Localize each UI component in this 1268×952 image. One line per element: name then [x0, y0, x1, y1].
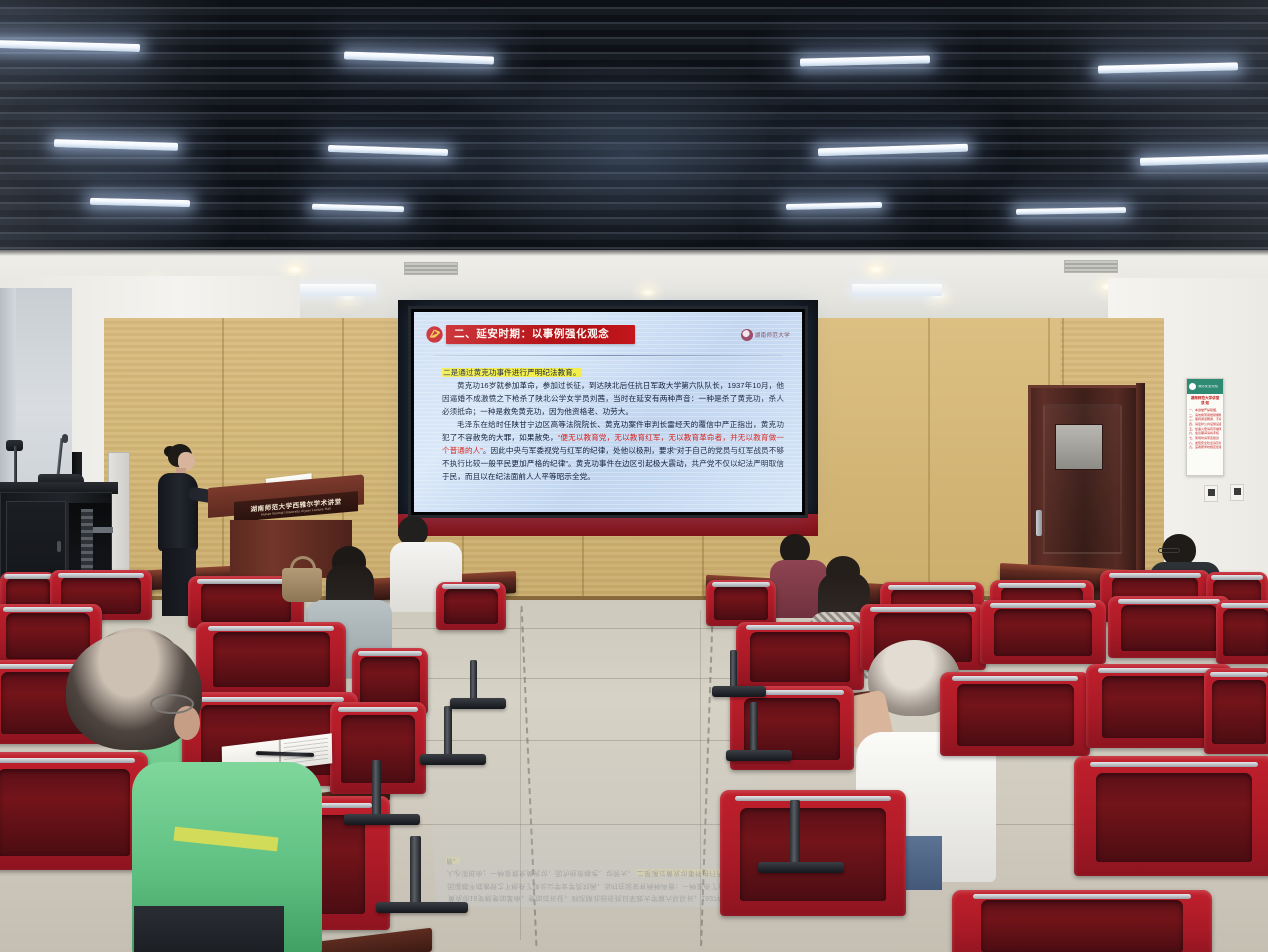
slide-divider — [434, 355, 782, 356]
seat-support-leg — [790, 800, 800, 870]
door-window — [1055, 424, 1103, 470]
notice-body-line: 七、离场时请带走随身 — [1189, 436, 1221, 441]
seat-base-foot — [450, 698, 506, 709]
seat-base-foot — [726, 750, 792, 761]
fluorescent-tube — [786, 202, 882, 210]
soffit-shadow — [0, 250, 1268, 256]
presenter-torso — [158, 473, 198, 551]
slide-header: 二、延安时期：以事例强化观念 湖南师范大学 — [426, 324, 790, 345]
notice-header-text: 消防安全须知 — [1198, 385, 1218, 388]
fluorescent-tube — [312, 204, 404, 213]
slide-paragraph-1: 黄克功16岁就参加革命，参加过长征，到达陕北后任抗日军政大学第六队队长，1937… — [442, 379, 784, 418]
university-seal-icon — [741, 329, 753, 341]
wall-switch-panel[interactable] — [1230, 484, 1244, 501]
seat-base-foot — [712, 686, 766, 697]
notice-title-line-2: 须 知 — [1188, 401, 1222, 406]
auditorium-seat[interactable] — [706, 580, 776, 626]
university-logo: 湖南师范大学 — [741, 329, 790, 341]
attendee-glasses-icon — [150, 694, 194, 714]
seat-support-leg — [444, 706, 452, 760]
wall-switch-panel[interactable] — [1204, 485, 1218, 502]
university-logo-text: 湖南师范大学 — [755, 331, 790, 339]
auditorium-seat[interactable] — [1216, 600, 1268, 664]
seat-support-leg — [410, 836, 421, 910]
party-emblem-icon — [426, 326, 443, 343]
notice-body: 一、本讲堂严禁吸烟、二、请勿携带易燃易爆物品三、保持通道畅通、不得四、请爱护公共… — [1187, 407, 1223, 451]
wall-tan-panels-right — [810, 318, 1060, 588]
notice-body-line: 四、请爱护公共设施设备 — [1189, 422, 1221, 427]
attendee-glasses-icon — [1158, 548, 1180, 553]
seat-base-foot — [376, 902, 468, 913]
projection-screen[interactable]: 二、延安时期：以事例强化观念 湖南师范大学 二是通过黄克功事件进行严明纪法教育。… — [408, 306, 808, 518]
rack-door-handle[interactable] — [57, 541, 61, 552]
fluorescent-tube — [800, 55, 930, 66]
recessed-downlight — [868, 265, 884, 274]
auditorium-seat[interactable] — [436, 582, 506, 630]
slide-body: 二是通过黄克功事件进行严明纪法教育。 黄克功16岁就参加革命，参加过长征，到达陕… — [442, 366, 784, 483]
ceiling-highlight-right — [1008, 0, 1268, 258]
door-handle[interactable] — [1036, 510, 1042, 536]
para2-part-b: 。因此中央与军委视党与红军的纪律，处他以极刑，要求“对于自己的党员与红军战员不够… — [442, 446, 784, 481]
seat-base-foot — [758, 862, 844, 873]
notice-logo-icon — [1189, 383, 1196, 390]
ceiling-air-vent — [1064, 260, 1118, 273]
ceiling-air-vent — [404, 262, 458, 275]
slide-floor-reflection: 黄克功16岁就参加革命，参加过长征，到达陕北后任抗日军政大学第六队队长，1937… — [428, 742, 767, 907]
recessed-downlight — [640, 288, 656, 297]
seat-support-leg — [750, 702, 758, 756]
highlighted-text: 二是通过黄克功事件进行严明纪法教育。 — [442, 368, 582, 377]
notice-title: 湖南师范大学讲堂 须 知 — [1187, 394, 1223, 407]
wall-notice-board[interactable]: 消防安全须知 湖南师范大学讲堂 须 知 一、本讲堂严禁吸烟、二、请勿携带易燃易爆… — [1186, 378, 1224, 476]
seat-support-leg — [372, 760, 381, 820]
auditorium-seat[interactable] — [1204, 668, 1268, 754]
auditorium-seat[interactable] — [952, 890, 1212, 952]
auditorium-seat[interactable] — [940, 672, 1090, 756]
av-lamp-pole — [14, 446, 17, 486]
panel-light — [852, 284, 942, 296]
slide-title: 二、延安时期：以事例强化观念 — [446, 325, 635, 344]
switch-rocker[interactable] — [1208, 489, 1215, 496]
auditorium-seat[interactable] — [720, 790, 906, 916]
seat-base-foot — [420, 754, 486, 765]
handbag[interactable] — [282, 568, 322, 602]
fluorescent-tube — [344, 51, 494, 64]
slide-surface: 二、延安时期：以事例强化观念 湖南师范大学 二是通过黄克功事件进行严明纪法教育。… — [414, 312, 802, 512]
lecture-hall-scene: 消防安全须知 湖南师范大学讲堂 须 知 一、本讲堂严禁吸烟、二、请勿携带易燃易爆… — [0, 0, 1268, 952]
reflection-text: 黄克功16岁就参加革命，参加过长征，到达陕北后任抗日军政大学第六队队长，1937… — [433, 850, 766, 907]
ceiling-slats — [0, 0, 1268, 258]
notice-body-line: 九、违者按学校规定处理 — [1189, 445, 1221, 450]
rack-crossbar — [93, 527, 113, 533]
attendee-shorts — [134, 906, 284, 952]
auditorium-seat[interactable] — [1074, 756, 1268, 876]
fluorescent-tube — [818, 144, 968, 157]
slide-paragraph-2: 毛泽东在给时任陕甘宁边区高等法院院长、黄克功案件审判长雷经天的覆信中严正指出，黄… — [442, 418, 784, 483]
ceiling-highlight-left — [0, 0, 230, 258]
seat-base-foot — [344, 814, 420, 825]
slide-highlight-line: 二是通过黄克功事件进行严明纪法教育。 — [442, 366, 784, 379]
notice-header: 消防安全须知 — [1187, 379, 1223, 394]
auditorium-seat[interactable] — [736, 622, 864, 690]
ceiling-glow — [420, 60, 840, 250]
auditorium-seat[interactable] — [1108, 596, 1230, 658]
attendee — [14, 632, 324, 952]
recessed-downlight — [287, 265, 303, 274]
switch-rocker[interactable] — [1234, 488, 1241, 495]
